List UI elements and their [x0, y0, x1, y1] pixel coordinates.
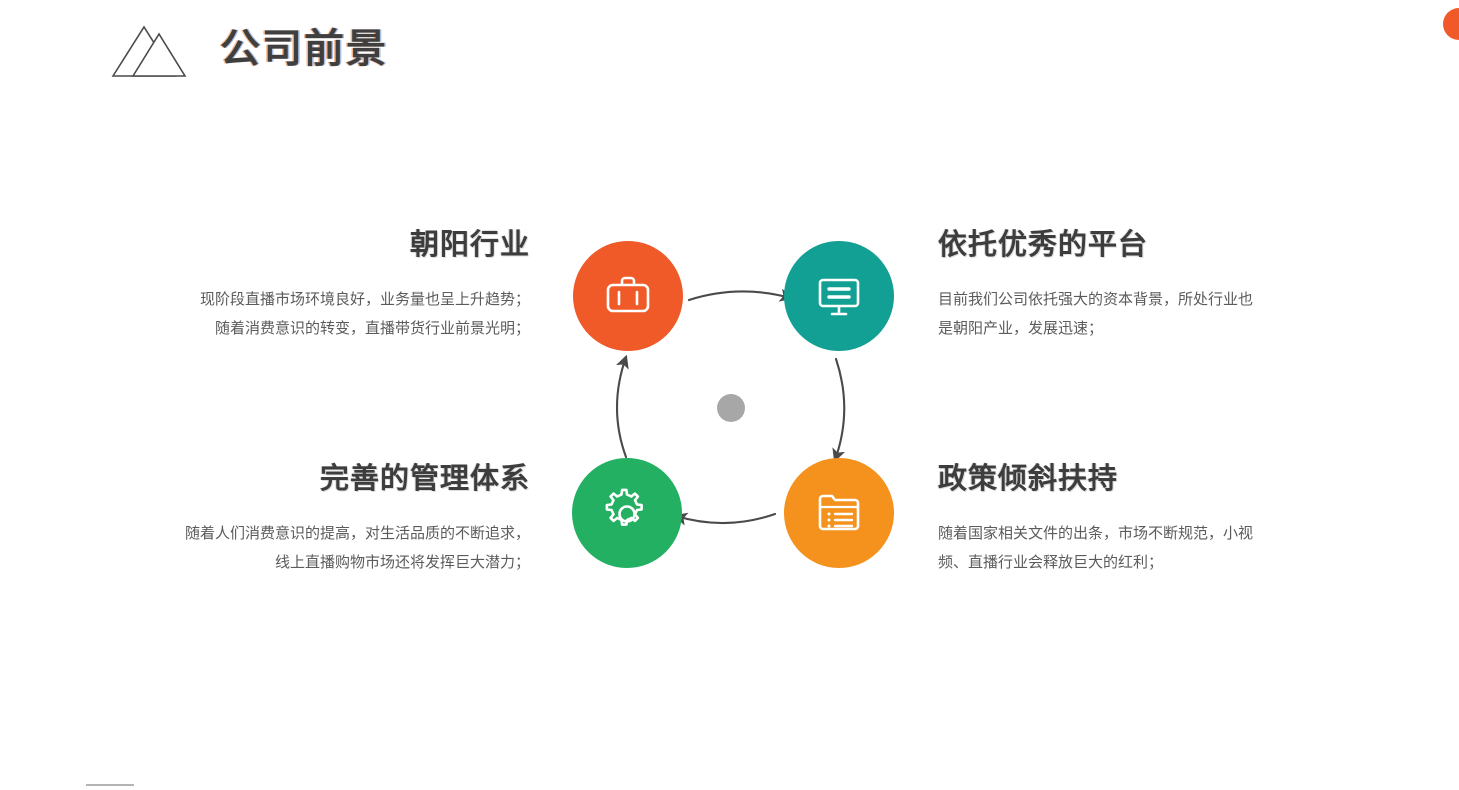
feature-body-line: 目前我们公司依托强大的资本背景，所处行业也: [938, 291, 1253, 308]
arrow-right: [835, 359, 844, 460]
feature-body-top-left: 现阶段直播市场环境良好，业务量也呈上升趋势； 随着消费意识的转变，直播带货行业前…: [100, 285, 530, 344]
feature-body-line: 线上直播购物市场还将发挥巨大潜力；: [275, 554, 530, 571]
feature-body-line: 是朝阳产业，发展迅速；: [938, 320, 1103, 337]
cycle-hub-dot: [717, 394, 745, 422]
folder-list-icon: [812, 486, 866, 540]
cycle-node-briefcase[interactable]: [573, 241, 683, 351]
arrow-bottom: [676, 514, 775, 523]
slide-header: 公司前景: [110, 18, 388, 80]
feature-body-line: 随着国家相关文件的出条，市场不断规范，小视: [938, 525, 1253, 542]
cycle-node-folder[interactable]: [784, 458, 894, 568]
feature-body-line: 频、直播行业会释放巨大的红利；: [938, 554, 1163, 571]
feature-block-top-left: 朝阳行业 现阶段直播市场环境良好，业务量也呈上升趋势； 随着消费意识的转变，直播…: [100, 228, 530, 343]
feature-block-top-right: 依托优秀的平台 目前我们公司依托强大的资本背景，所处行业也 是朝阳产业，发展迅速…: [938, 228, 1350, 343]
feature-block-bottom-right: 政策倾斜扶持 随着国家相关文件的出条，市场不断规范，小视 频、直播行业会释放巨大…: [938, 462, 1350, 577]
corner-accent-circle: [1443, 8, 1459, 40]
arrow-left: [617, 357, 626, 457]
feature-heading-top-left: 朝阳行业: [100, 228, 530, 263]
cycle-node-gear[interactable]: [572, 458, 682, 568]
arrow-top: [689, 291, 791, 300]
cycle-node-presentation[interactable]: [784, 241, 894, 351]
presentation-icon: [812, 269, 866, 323]
feature-body-line: 随着消费意识的转变，直播带货行业前景光明；: [215, 320, 530, 337]
feature-body-line: 现阶段直播市场环境良好，业务量也呈上升趋势；: [200, 291, 530, 308]
bottom-divider-rule: [86, 784, 134, 786]
feature-heading-bottom-right: 政策倾斜扶持: [938, 462, 1350, 497]
feature-heading-top-right: 依托优秀的平台: [938, 228, 1350, 263]
gear-icon: [600, 486, 654, 540]
feature-block-bottom-left: 完善的管理体系 随着人们消费意识的提高，对生活品质的不断追求， 线上直播购物市场…: [80, 462, 530, 577]
feature-body-bottom-left: 随着人们消费意识的提高，对生活品质的不断追求， 线上直播购物市场还将发挥巨大潜力…: [80, 519, 530, 578]
feature-body-line: 随着人们消费意识的提高，对生活品质的不断追求，: [185, 525, 530, 542]
page-title: 公司前景: [220, 29, 388, 69]
feature-body-top-right: 目前我们公司依托强大的资本背景，所处行业也 是朝阳产业，发展迅速；: [938, 285, 1350, 344]
slide-canvas: 公司前景: [0, 0, 1459, 790]
feature-body-bottom-right: 随着国家相关文件的出条，市场不断规范，小视 频、直播行业会释放巨大的红利；: [938, 519, 1350, 578]
mountain-logo-icon: [110, 18, 198, 80]
briefcase-icon: [601, 269, 655, 323]
cycle-diagram: [548, 218, 914, 590]
feature-heading-bottom-left: 完善的管理体系: [80, 462, 530, 497]
